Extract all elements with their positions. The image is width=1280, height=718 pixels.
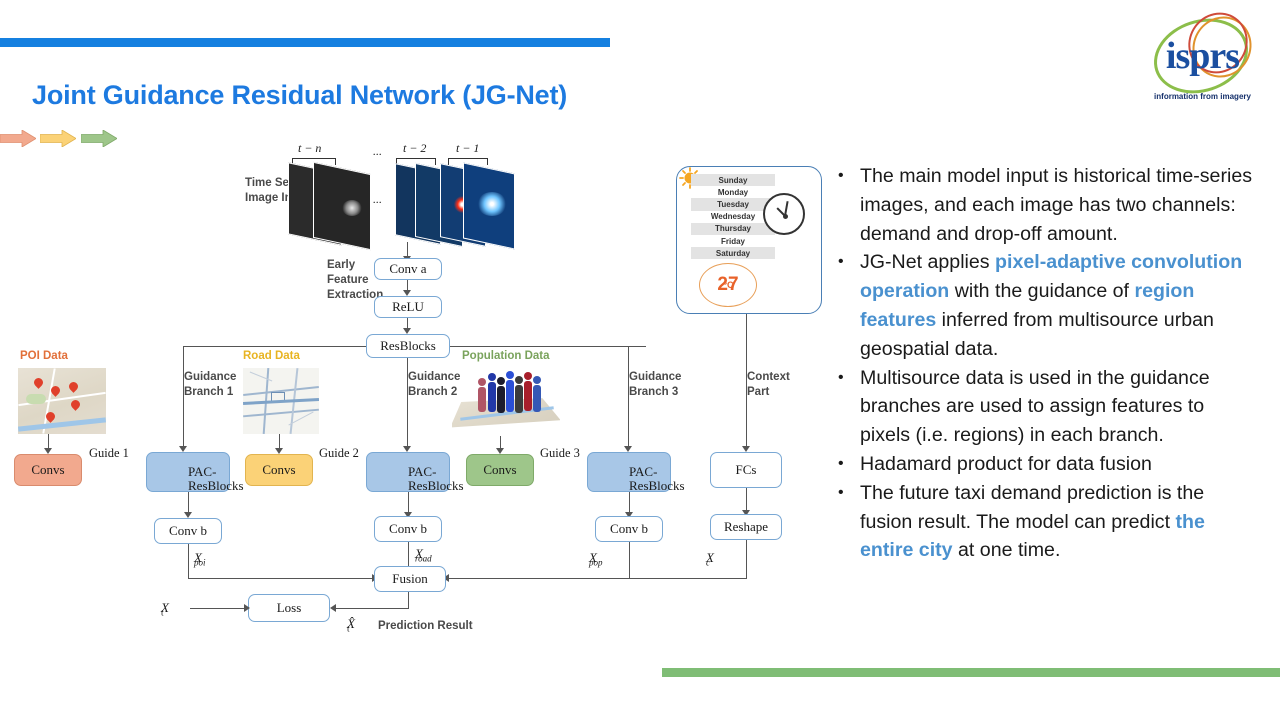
node-pac-resblocks-1[interactable]: PAC-ResBlocks <box>146 452 230 492</box>
conn-card-to-context <box>746 314 747 318</box>
node-conv-b-road[interactable]: Conv b <box>374 516 442 542</box>
weekday-row: Tuesday <box>691 198 775 210</box>
plain-phrase: Multisource data is used in the guidance… <box>860 367 1210 447</box>
guide-arrow-1-icon <box>0 130 36 147</box>
guide-label-1: Guide 1 <box>89 446 129 461</box>
bullet-list: •The main model input is historical time… <box>838 162 1258 565</box>
node-resblocks[interactable]: ResBlocks <box>366 334 450 358</box>
bullet-item: •JG-Net applies pixel-adaptive convoluti… <box>838 248 1258 363</box>
node-fusion[interactable]: Fusion <box>374 566 446 592</box>
conn-fcs-reshape <box>746 488 747 512</box>
guide-arrow-3-icon <box>81 130 117 147</box>
timestep-label-2: t − 2 <box>403 141 426 156</box>
conn-pac2-convb <box>408 492 409 514</box>
branch-label-2: GuidanceBranch 2 <box>369 370 447 385</box>
plain-phrase: The main model input is historical time-… <box>860 165 1252 245</box>
conn-context-drop <box>746 314 747 448</box>
poi-data-label: POI Data <box>20 350 68 362</box>
bullet-text: JG-Net applies pixel-adaptive convolutio… <box>860 248 1258 363</box>
architecture-diagram: Time SeriesImage Input t − n ... t − 2 t… <box>0 130 830 670</box>
conn-fusion-to-loss <box>333 608 409 609</box>
top-accent-bar <box>0 38 610 47</box>
isprs-logo: isprs information from imagery <box>1135 14 1270 109</box>
feature-var-road: Xroad <box>415 546 432 564</box>
population-people-icon <box>474 368 548 418</box>
weekday-row: Sunday <box>691 174 775 186</box>
node-conv-b-pop[interactable]: Conv b <box>595 516 663 542</box>
context-card: SundayMondayTuesdayWednesdayThursdayFrid… <box>676 166 822 314</box>
node-relu[interactable]: ReLU <box>374 296 442 318</box>
plain-phrase: with the guidance of <box>949 280 1134 302</box>
branch-label-3: GuidanceBranch 3 <box>590 370 668 385</box>
node-fcs[interactable]: FCs <box>710 452 782 488</box>
guide-label-3: Guide 3 <box>540 446 580 461</box>
weekday-row: Friday <box>691 235 775 247</box>
input-heat-t1 <box>477 192 507 216</box>
prediction-result-label: Prediction Result <box>378 619 473 634</box>
conn-pop-down <box>629 542 630 578</box>
conn-pac3-convb <box>629 492 630 514</box>
prediction-var: X̂t <box>347 616 350 634</box>
bullet-text: The main model input is historical time-… <box>860 162 1258 248</box>
bullet-marker: • <box>838 162 860 248</box>
plain-phrase: JG-Net applies <box>860 251 995 273</box>
early-feature-extraction-label: Early Feature Extraction <box>288 258 366 288</box>
conn-fusion-down <box>408 592 409 608</box>
bullet-marker: • <box>838 364 860 450</box>
bullet-text: The future taxi demand prediction is the… <box>860 479 1258 565</box>
bullet-item: •The main model input is historical time… <box>838 162 1258 248</box>
conn-context-down <box>746 540 747 578</box>
input-heat-tn <box>342 200 362 216</box>
plain-phrase: at one time. <box>953 539 1061 561</box>
node-conv-b-poi[interactable]: Conv b <box>154 518 222 544</box>
bullet-marker: • <box>838 248 860 363</box>
conn-poi-to-fusion <box>188 578 374 579</box>
bullet-text: Hadamard product for data fusion <box>860 450 1258 479</box>
population-data-label: Population Data <box>462 350 550 362</box>
node-pac-resblocks-2[interactable]: PAC-ResBlocks <box>366 452 450 492</box>
bullet-marker: • <box>838 479 860 565</box>
bullet-text: Multisource data is used in the guidance… <box>860 364 1258 450</box>
node-convs-road[interactable]: Convs <box>245 454 313 486</box>
bus-resblocks-left <box>183 346 366 347</box>
logo-tagline: information from imagery <box>1135 92 1270 101</box>
bus-resblocks-right <box>450 346 646 347</box>
bullet-item: •The future taxi demand prediction is th… <box>838 479 1258 565</box>
conn-xt-to-loss <box>190 608 246 609</box>
population-map-thumbnail <box>452 368 560 436</box>
conn-pop-to-fusion <box>446 578 630 579</box>
weekday-row: Monday <box>691 186 775 198</box>
ground-truth-var: Xt <box>161 600 164 618</box>
feature-var-context: Xc <box>706 550 710 568</box>
plain-phrase: Hadamard product for data fusion <box>860 453 1152 475</box>
logo-wordmark: isprs <box>1135 34 1270 78</box>
arrow-xt-loss <box>244 604 250 612</box>
poi-pin <box>32 376 45 389</box>
bullet-marker: • <box>838 450 860 479</box>
timestep-ellipsis: ... <box>373 144 382 159</box>
page-title: Joint Guidance Residual Network (JG-Net) <box>32 80 567 111</box>
conn-poi-down <box>188 544 189 578</box>
conn-context-to-fusion <box>630 578 747 579</box>
node-convs-poi[interactable]: Convs <box>14 454 82 486</box>
branch-label-1: GuidanceBranch 1 <box>145 370 223 385</box>
poi-map-thumbnail <box>18 368 106 434</box>
feature-var-pop: Xpop <box>589 550 603 568</box>
weekday-row: Saturday <box>691 247 775 259</box>
plain-phrase: The future taxi demand prediction is the… <box>860 482 1204 533</box>
arrow-fusion-loss <box>330 604 336 612</box>
weekday-row: Thursday <box>691 223 775 235</box>
node-conv-a[interactable]: Conv a <box>374 258 442 280</box>
temperature-badge: 27°C <box>699 263 757 307</box>
poi-pin <box>69 398 82 411</box>
road-map-thumbnail <box>243 368 319 434</box>
clock-icon <box>763 193 805 235</box>
guide-arrow-2-icon <box>40 130 76 147</box>
poi-pin <box>67 380 80 393</box>
node-loss[interactable]: Loss <box>248 594 330 622</box>
node-reshape[interactable]: Reshape <box>710 514 782 540</box>
feature-var-poi: Xpoi <box>194 550 206 568</box>
bullet-item: •Multisource data is used in the guidanc… <box>838 364 1258 450</box>
bullet-item: •Hadamard product for data fusion <box>838 450 1258 479</box>
timestep-label-0: t − n <box>298 141 321 156</box>
time-series-input-label: Time SeriesImage Input <box>205 176 285 191</box>
node-pac-resblocks-3[interactable]: PAC-ResBlocks <box>587 452 671 492</box>
conn-pac1-convb <box>188 492 189 514</box>
frames-ellipsis: ... <box>373 192 382 207</box>
node-convs-pop[interactable]: Convs <box>466 454 534 486</box>
road-data-label: Road Data <box>243 350 300 362</box>
timestep-label-3: t − 1 <box>456 141 479 156</box>
guide-label-2: Guide 2 <box>319 446 359 461</box>
